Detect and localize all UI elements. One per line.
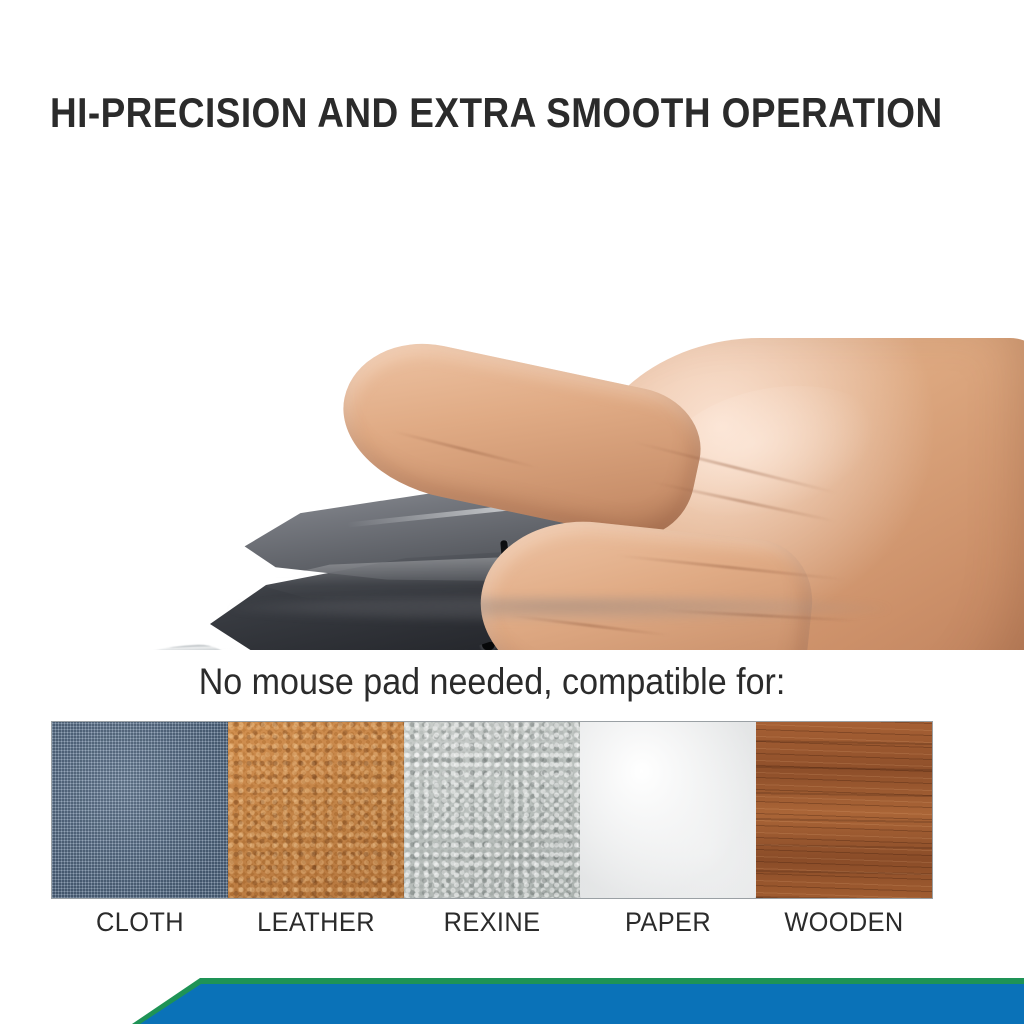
- swatch-leather: [228, 722, 404, 898]
- swatch-label-paper: PAPER: [585, 906, 750, 938]
- subtitle: No mouse pad needed, compatible for:: [87, 660, 897, 704]
- swatch-label-rexine: REXINE: [409, 906, 574, 938]
- hero-photo-hand-on-mouse: [0, 160, 1024, 650]
- page-title: HI-PRECISION AND EXTRA SMOOTH OPERATION: [50, 90, 863, 136]
- swatch-label-cloth: CLOTH: [57, 906, 222, 938]
- swatch-label-wooden: WOODEN: [761, 906, 926, 938]
- surface-swatch-strip: [52, 722, 932, 898]
- swatch-label-leather: LEATHER: [233, 906, 398, 938]
- index-finger: [329, 328, 712, 548]
- mouse-contact-shadow: [230, 596, 890, 622]
- bottom-banner: [0, 962, 1024, 1024]
- product-feature-image: HI-PRECISION AND EXTRA SMOOTH OPERATION: [0, 0, 1024, 1024]
- swatch-cloth: [52, 722, 228, 898]
- swatch-wooden: [756, 722, 932, 898]
- swatch-paper: [580, 722, 756, 898]
- swatch-rexine: [404, 722, 580, 898]
- surface-label-row: CLOTH LEATHER REXINE PAPER WOODEN: [52, 906, 932, 938]
